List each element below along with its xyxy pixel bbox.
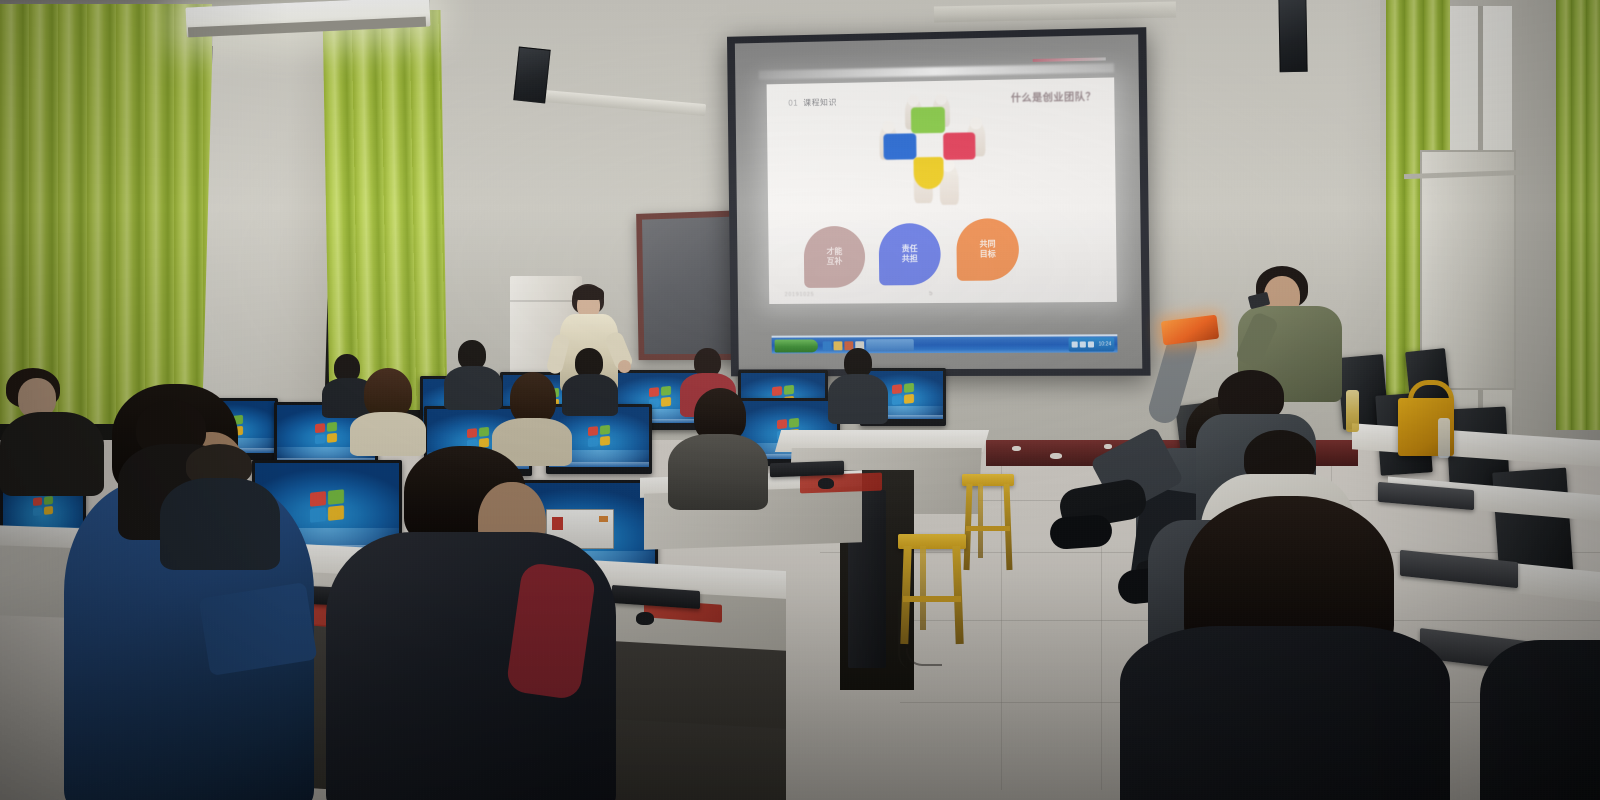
mouse[interactable] xyxy=(818,478,834,489)
foreground-attendee xyxy=(1120,496,1450,800)
drop-goal-line1: 共同 xyxy=(979,239,995,249)
student xyxy=(828,348,888,414)
system-tray[interactable]: 10:24 xyxy=(1069,337,1114,351)
slide-page-number: 5 xyxy=(929,291,932,297)
drop-responsibility: 责任 共担 xyxy=(879,223,941,285)
curtain-left xyxy=(0,4,212,424)
network-icon[interactable] xyxy=(1072,341,1078,347)
student-dark-jacket xyxy=(326,446,616,800)
presenter-hand xyxy=(618,360,631,373)
slide-footer: 20191025 xyxy=(785,292,815,298)
screen-edge-highlight xyxy=(1033,57,1106,62)
drop-goal: 共同 目标 xyxy=(956,218,1019,281)
projected-slide: 01 课程知识 什么是创业团队？ xyxy=(767,77,1117,304)
volume-icon[interactable] xyxy=(1080,341,1086,347)
presenter-fringe xyxy=(573,286,604,300)
projection-screen: 01 课程知识 什么是创业团队？ xyxy=(727,27,1151,376)
shield-icon[interactable] xyxy=(1088,341,1094,347)
classroom-photo: 01 课程知识 什么是创业团队？ xyxy=(0,0,1600,800)
taskbar-clock[interactable]: 10:24 xyxy=(1096,341,1111,347)
puzzle-team-graphic xyxy=(861,94,1010,214)
windows-logo xyxy=(33,496,53,516)
drop-talent-line2: 互补 xyxy=(827,257,843,267)
foreground-attendee xyxy=(1480,640,1600,800)
drop-talent-line1: 才能 xyxy=(826,247,842,257)
water-bottle[interactable] xyxy=(1346,390,1359,432)
mouse[interactable] xyxy=(636,612,654,625)
yellow-stool[interactable] xyxy=(898,534,966,644)
puzzle-piece-red xyxy=(943,132,975,160)
puzzle-piece-green xyxy=(911,107,945,134)
curtain-middle xyxy=(323,10,448,410)
start-button[interactable] xyxy=(775,339,818,352)
drop-goal-line2: 目标 xyxy=(980,249,996,259)
wall-speaker-left xyxy=(513,46,550,103)
screen-glare xyxy=(759,63,1115,79)
windows-logo xyxy=(588,425,610,447)
student xyxy=(492,372,572,450)
puzzle-piece-blue xyxy=(883,133,916,159)
yellow-stool[interactable] xyxy=(962,474,1014,570)
puzzle-piece-yellow xyxy=(913,157,943,189)
slide-section-kicker: 01 课程知识 xyxy=(788,97,837,109)
pillar xyxy=(202,8,335,408)
drop-talent: 才能 互补 xyxy=(804,226,866,288)
windows-logo xyxy=(892,383,914,405)
windows-logo xyxy=(315,422,337,444)
windows-taskbar[interactable]: 10:24 xyxy=(772,334,1118,353)
slide-section-number: 01 xyxy=(788,99,798,108)
drop-responsibility-line2: 共担 xyxy=(902,254,918,264)
keyboard[interactable] xyxy=(770,461,844,478)
curtain-far-right xyxy=(1556,0,1600,430)
student xyxy=(160,444,280,564)
slide-section-text: 课程知识 xyxy=(803,97,837,109)
projection-screen-surface: 01 课程知识 什么是创业团队？ xyxy=(735,34,1142,369)
student xyxy=(668,388,768,500)
student xyxy=(350,368,426,440)
water-bottle[interactable] xyxy=(1438,418,1450,458)
slide-title: 什么是创业团队？ xyxy=(1011,88,1096,105)
drop-responsibility-line1: 责任 xyxy=(902,244,918,254)
wall-speaker-right xyxy=(1278,0,1307,72)
